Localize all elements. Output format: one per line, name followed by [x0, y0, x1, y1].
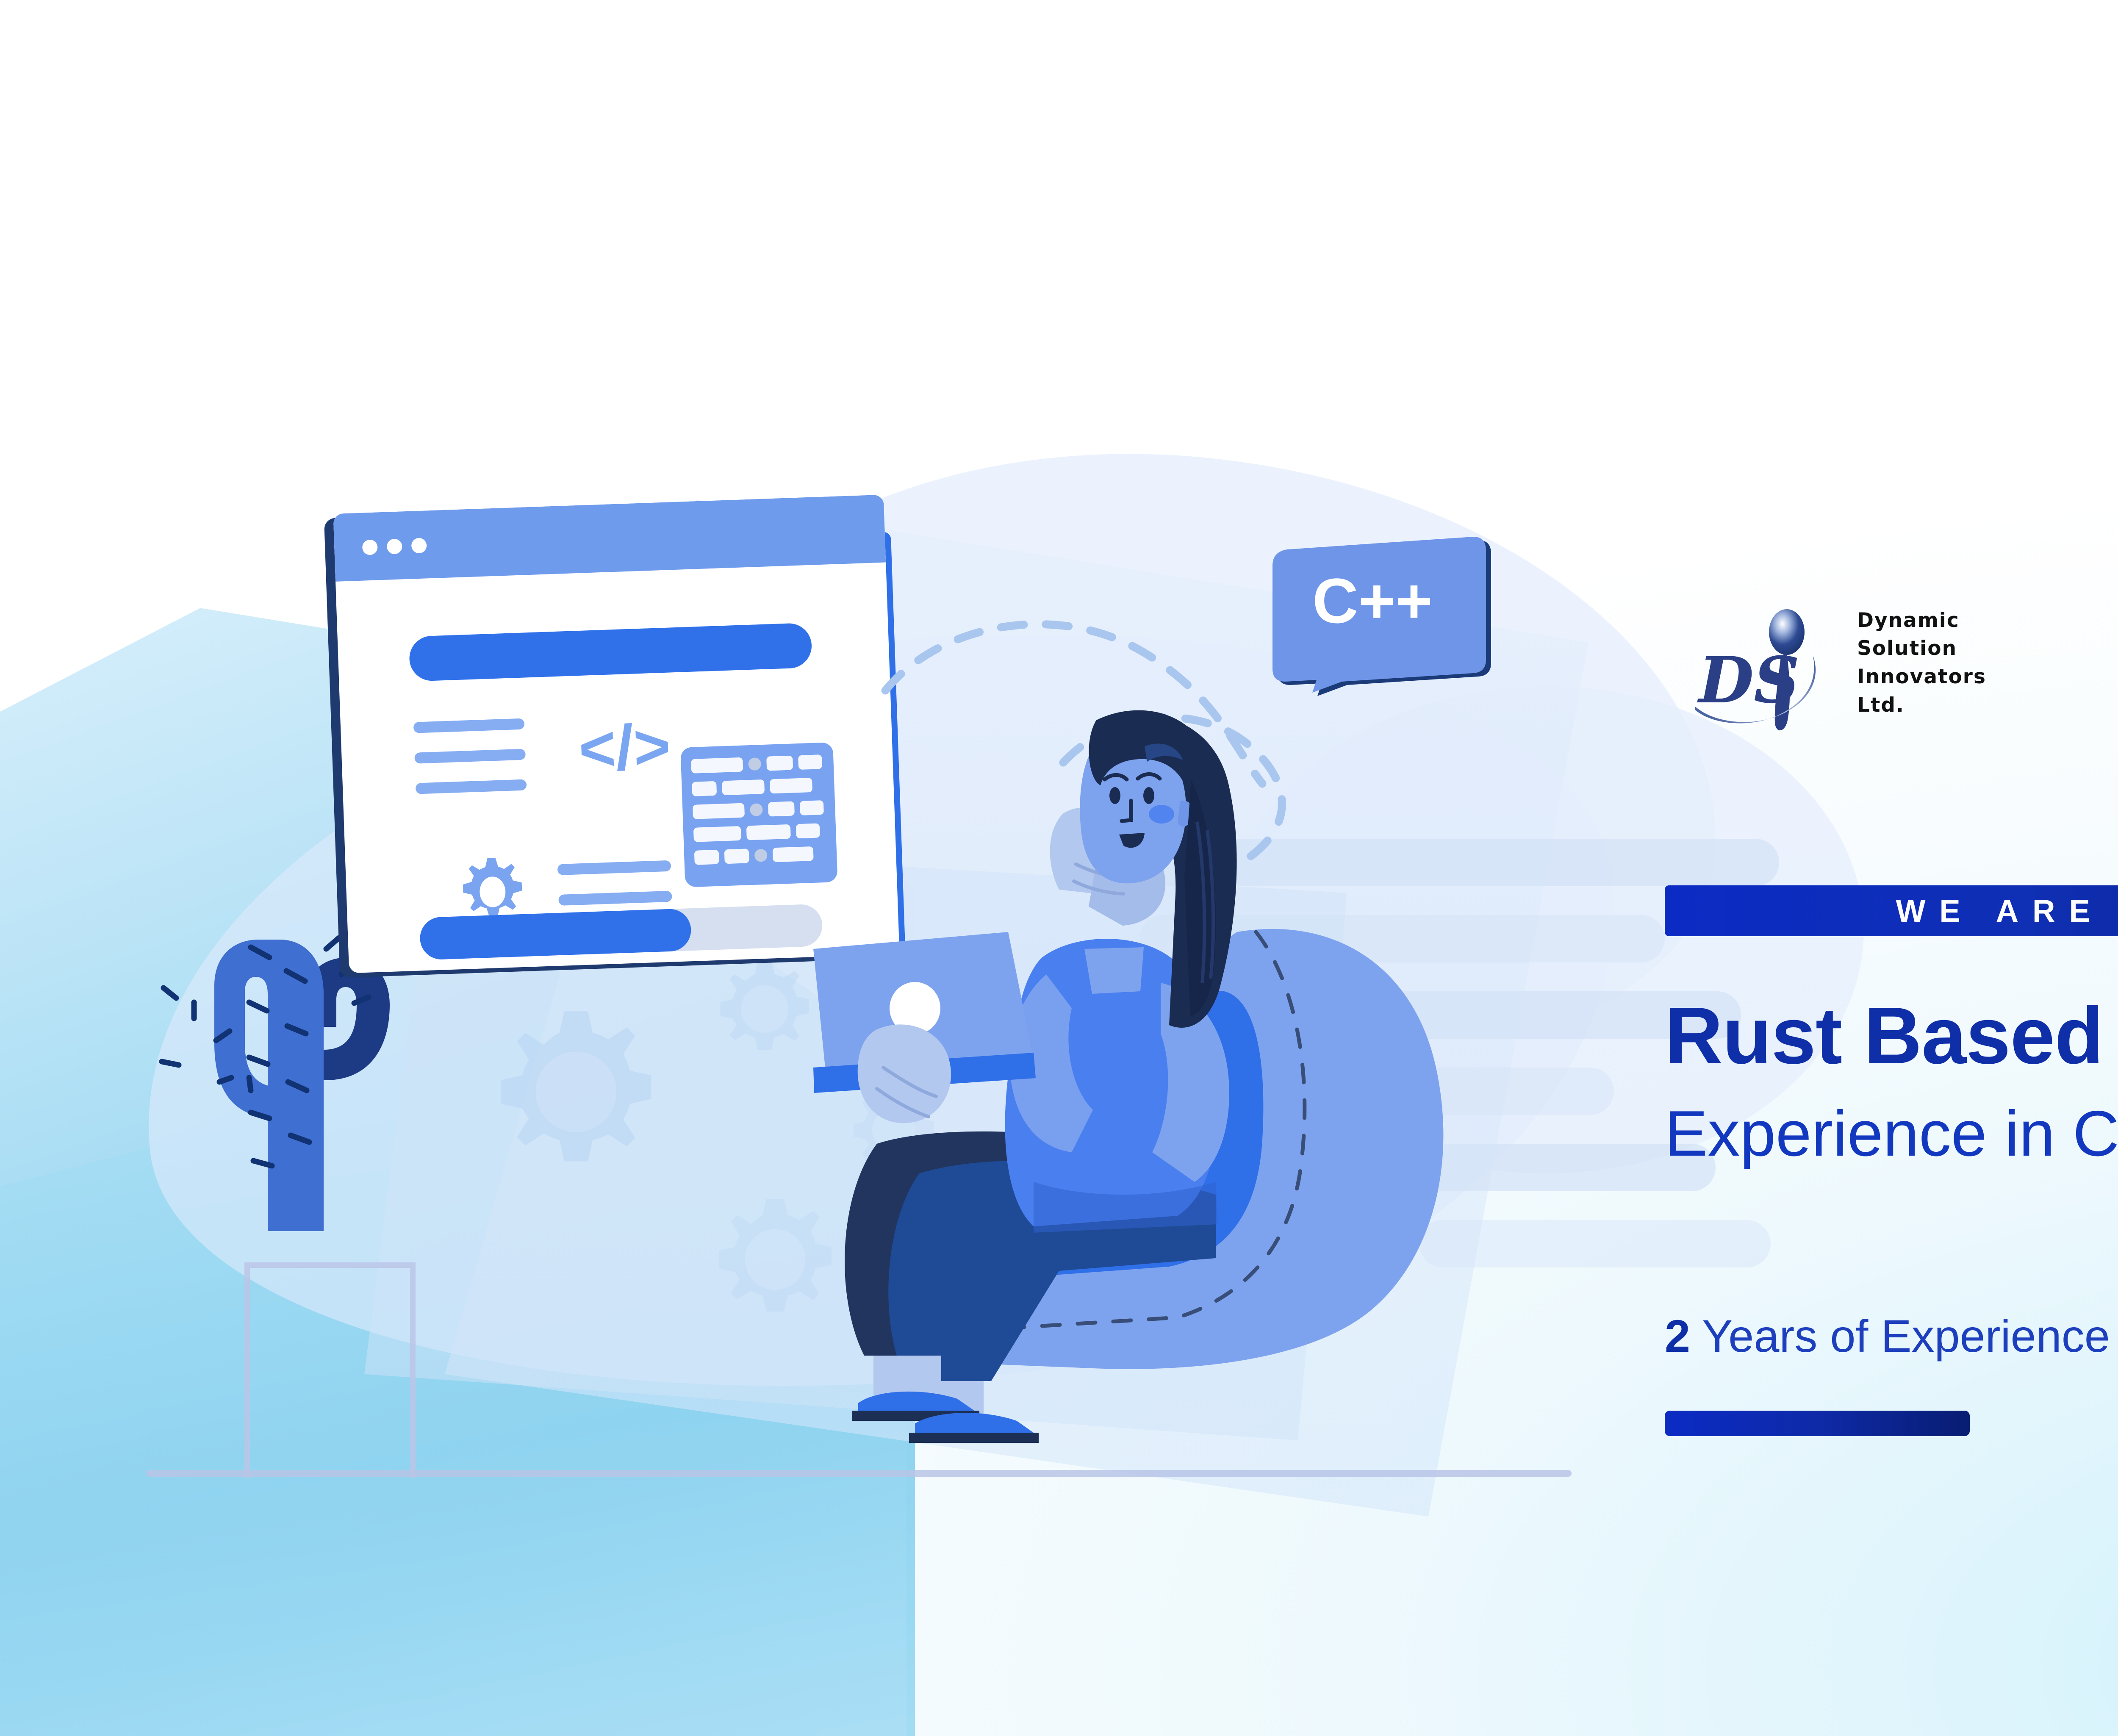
cpp-speech-bubble: C++	[1267, 536, 1495, 697]
window-footer-bar-fill	[419, 908, 692, 960]
code-seg	[693, 826, 741, 842]
window-text-line-4	[557, 860, 671, 875]
experience-text: Years of Experience Needed	[1702, 1310, 2118, 1362]
company-name-line-2: Solution	[1857, 635, 1986, 663]
window-text-line-5	[558, 891, 672, 906]
dsi-monogram-icon: DS	[1690, 593, 1843, 733]
company-name-line-4: Ltd.	[1857, 691, 1986, 720]
job-subtitle: Experience in CUDA libraries	[1665, 1101, 2118, 1166]
experience-underline	[1665, 1411, 1970, 1436]
experience-requirement: 2 Years of Experience Needed	[1665, 1313, 2118, 1359]
window-text-line-3	[416, 779, 527, 794]
code-seg	[692, 781, 717, 796]
experience-years: 2	[1665, 1310, 1690, 1362]
window-text-line-1	[413, 718, 525, 733]
hiring-info-panel: DS Dynamic Solution Innovators Ltd. WE A…	[1665, 593, 2118, 1525]
code-seg	[691, 757, 743, 774]
banner-canvas: </>	[0, 0, 2118, 1736]
person-illustration	[737, 695, 1483, 1500]
we-are-hiring-label: WE ARE HIRING	[1882, 893, 2118, 929]
company-name-line-3: Innovators	[1857, 663, 1986, 691]
cpp-bubble-label: C++	[1312, 565, 1433, 636]
company-name-line-1: Dynamic	[1857, 607, 1986, 635]
gear-icon-large	[457, 983, 695, 1220]
company-name: Dynamic Solution Innovators Ltd.	[1857, 607, 1986, 720]
we-are-hiring-badge: WE ARE HIRING	[1665, 885, 2118, 936]
code-seg	[694, 850, 719, 865]
company-logo: DS Dynamic Solution Innovators Ltd.	[1690, 593, 1986, 733]
window-text-line-2	[414, 749, 526, 764]
job-title: Rust Based Developer	[1665, 996, 2118, 1076]
window-hero-bar	[409, 623, 812, 682]
code-glyph-icon: </>	[578, 715, 656, 776]
